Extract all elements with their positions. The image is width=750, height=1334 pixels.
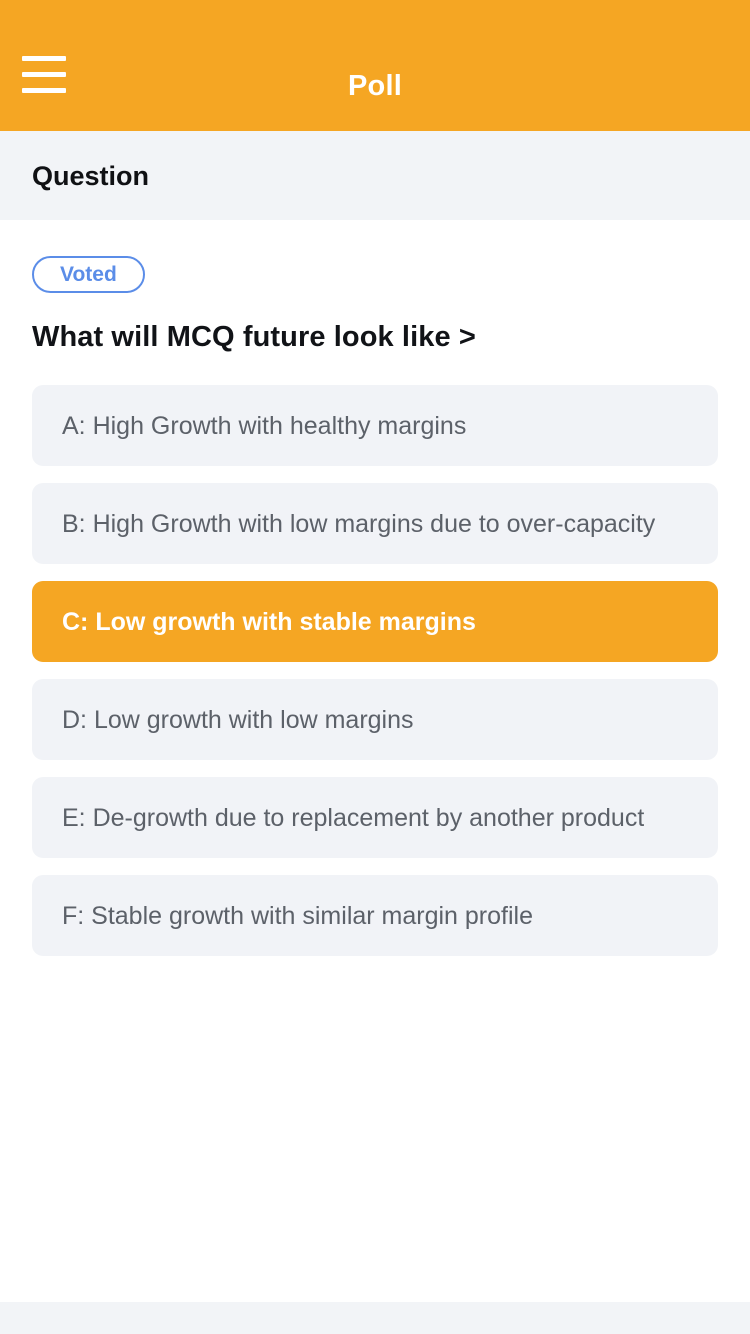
poll-option-b-label: B: High Growth with low margins due to o… (62, 508, 655, 540)
status-badge: Voted (32, 256, 145, 293)
section-header: Question (0, 131, 750, 220)
poll-options-list: A: High Growth with healthy margins B: H… (32, 385, 718, 956)
poll-option-d[interactable]: D: Low growth with low margins (32, 679, 718, 760)
poll-option-c-label: C: Low growth with stable margins (62, 606, 476, 638)
app-bar-title: Poll (0, 68, 750, 104)
poll-screen: Poll Question Voted What will MCQ future… (0, 0, 750, 1334)
poll-option-a-label: A: High Growth with healthy margins (62, 410, 466, 442)
footer-strip (0, 1302, 750, 1334)
poll-content: Voted What will MCQ future look like > A… (0, 220, 750, 1334)
poll-option-f[interactable]: F: Stable growth with similar margin pro… (32, 875, 718, 956)
poll-question-text: What will MCQ future look like > (32, 319, 718, 355)
hamburger-bar-top (22, 56, 66, 61)
poll-option-b[interactable]: B: High Growth with low margins due to o… (32, 483, 718, 564)
poll-option-c[interactable]: C: Low growth with stable margins (32, 581, 718, 662)
poll-option-e[interactable]: E: De-growth due to replacement by anoth… (32, 777, 718, 858)
section-header-title: Question (32, 159, 149, 193)
poll-option-e-label: E: De-growth due to replacement by anoth… (62, 802, 644, 834)
app-bar: Poll (0, 0, 750, 131)
poll-option-f-label: F: Stable growth with similar margin pro… (62, 900, 533, 932)
poll-option-d-label: D: Low growth with low margins (62, 704, 414, 736)
poll-option-a[interactable]: A: High Growth with healthy margins (32, 385, 718, 466)
status-badge-label: Voted (60, 263, 117, 287)
